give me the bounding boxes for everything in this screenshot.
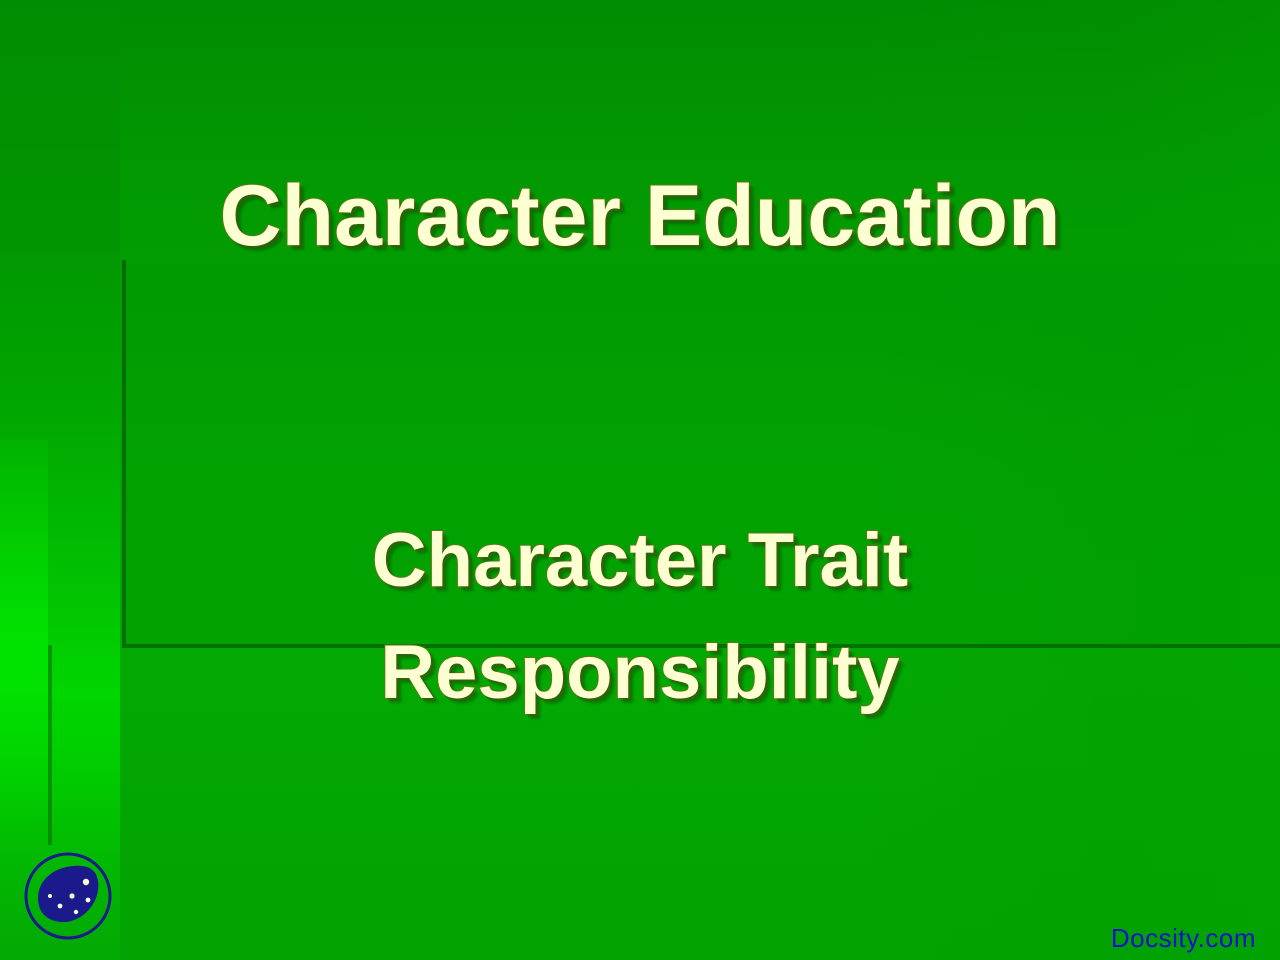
- slide-subtitle-line-1: Character Trait: [0, 518, 1280, 604]
- slide-subtitle-line-2: Responsibility: [0, 630, 1280, 716]
- blue-circular-seal-logo-icon: [24, 852, 112, 940]
- presentation-slide: Character Education Character Trait Resp…: [0, 0, 1280, 960]
- docsity-watermark: Docsity.com: [1111, 923, 1256, 954]
- slide-title: Character Education: [0, 168, 1280, 264]
